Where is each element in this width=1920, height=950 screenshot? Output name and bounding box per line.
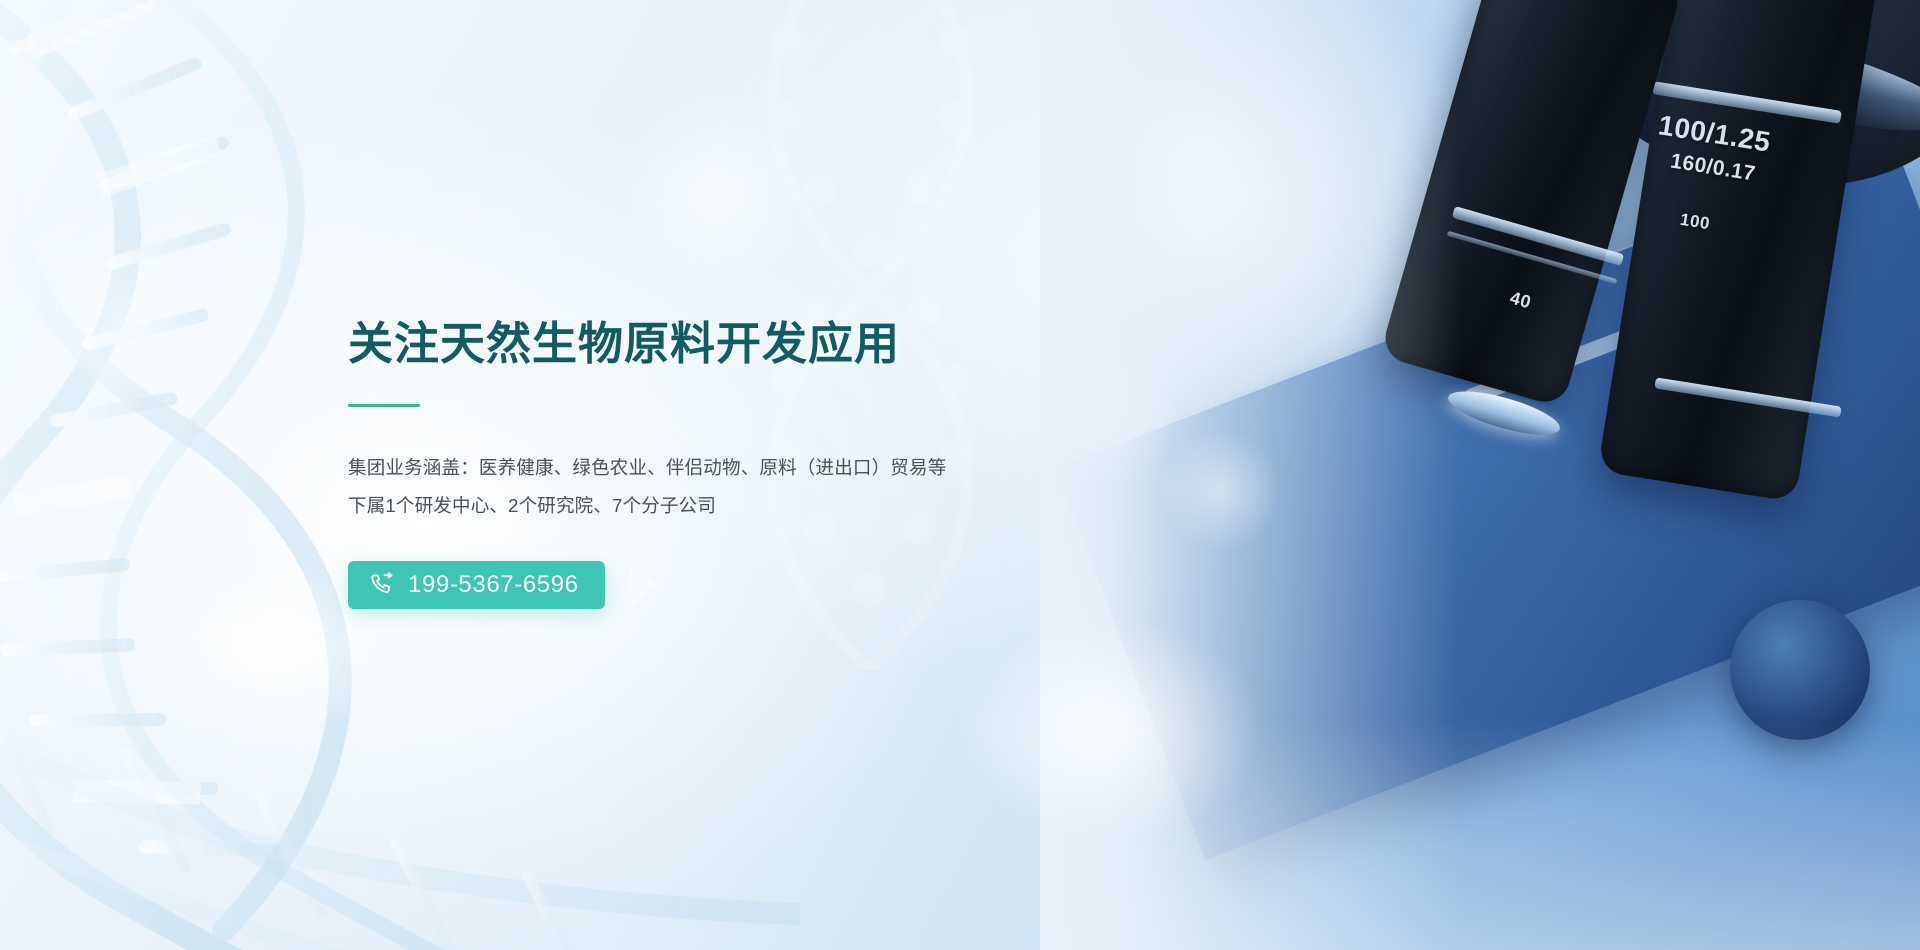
microscope-knob	[1730, 600, 1870, 740]
bokeh-circle	[620, 90, 820, 290]
hero-description: 集团业务涵盖：医养健康、绿色农业、伴侣动物、原料（进出口）贸易等 下属1个研发中…	[348, 449, 1108, 525]
page-title: 关注天然生物原料开发应用	[348, 318, 1108, 370]
hero-content: 关注天然生物原料开发应用 集团业务涵盖：医养健康、绿色农业、伴侣动物、原料（进出…	[348, 318, 1108, 609]
bokeh-circle	[40, 240, 210, 410]
phone-cta-button[interactable]: 199-5367-6596	[348, 561, 605, 609]
accent-divider	[348, 404, 420, 407]
phone-forward-icon	[370, 572, 396, 598]
hero-banner: 100/1.25 160/0.17 100 40	[0, 0, 1920, 950]
cta-ribbon-tail	[630, 563, 658, 607]
hero-description-line-1: 集团业务涵盖：医养健康、绿色农业、伴侣动物、原料（进出口）贸易等	[348, 449, 1108, 487]
cta-area: 199-5367-6596	[348, 561, 708, 609]
microscope-photo: 100/1.25 160/0.17 100 40	[1040, 0, 1920, 950]
hero-description-line-2: 下属1个研发中心、2个研究院、7个分子公司	[348, 487, 1108, 525]
photo-bottom-fade	[1040, 720, 1920, 950]
phone-number-label: 199-5367-6596	[408, 573, 579, 597]
